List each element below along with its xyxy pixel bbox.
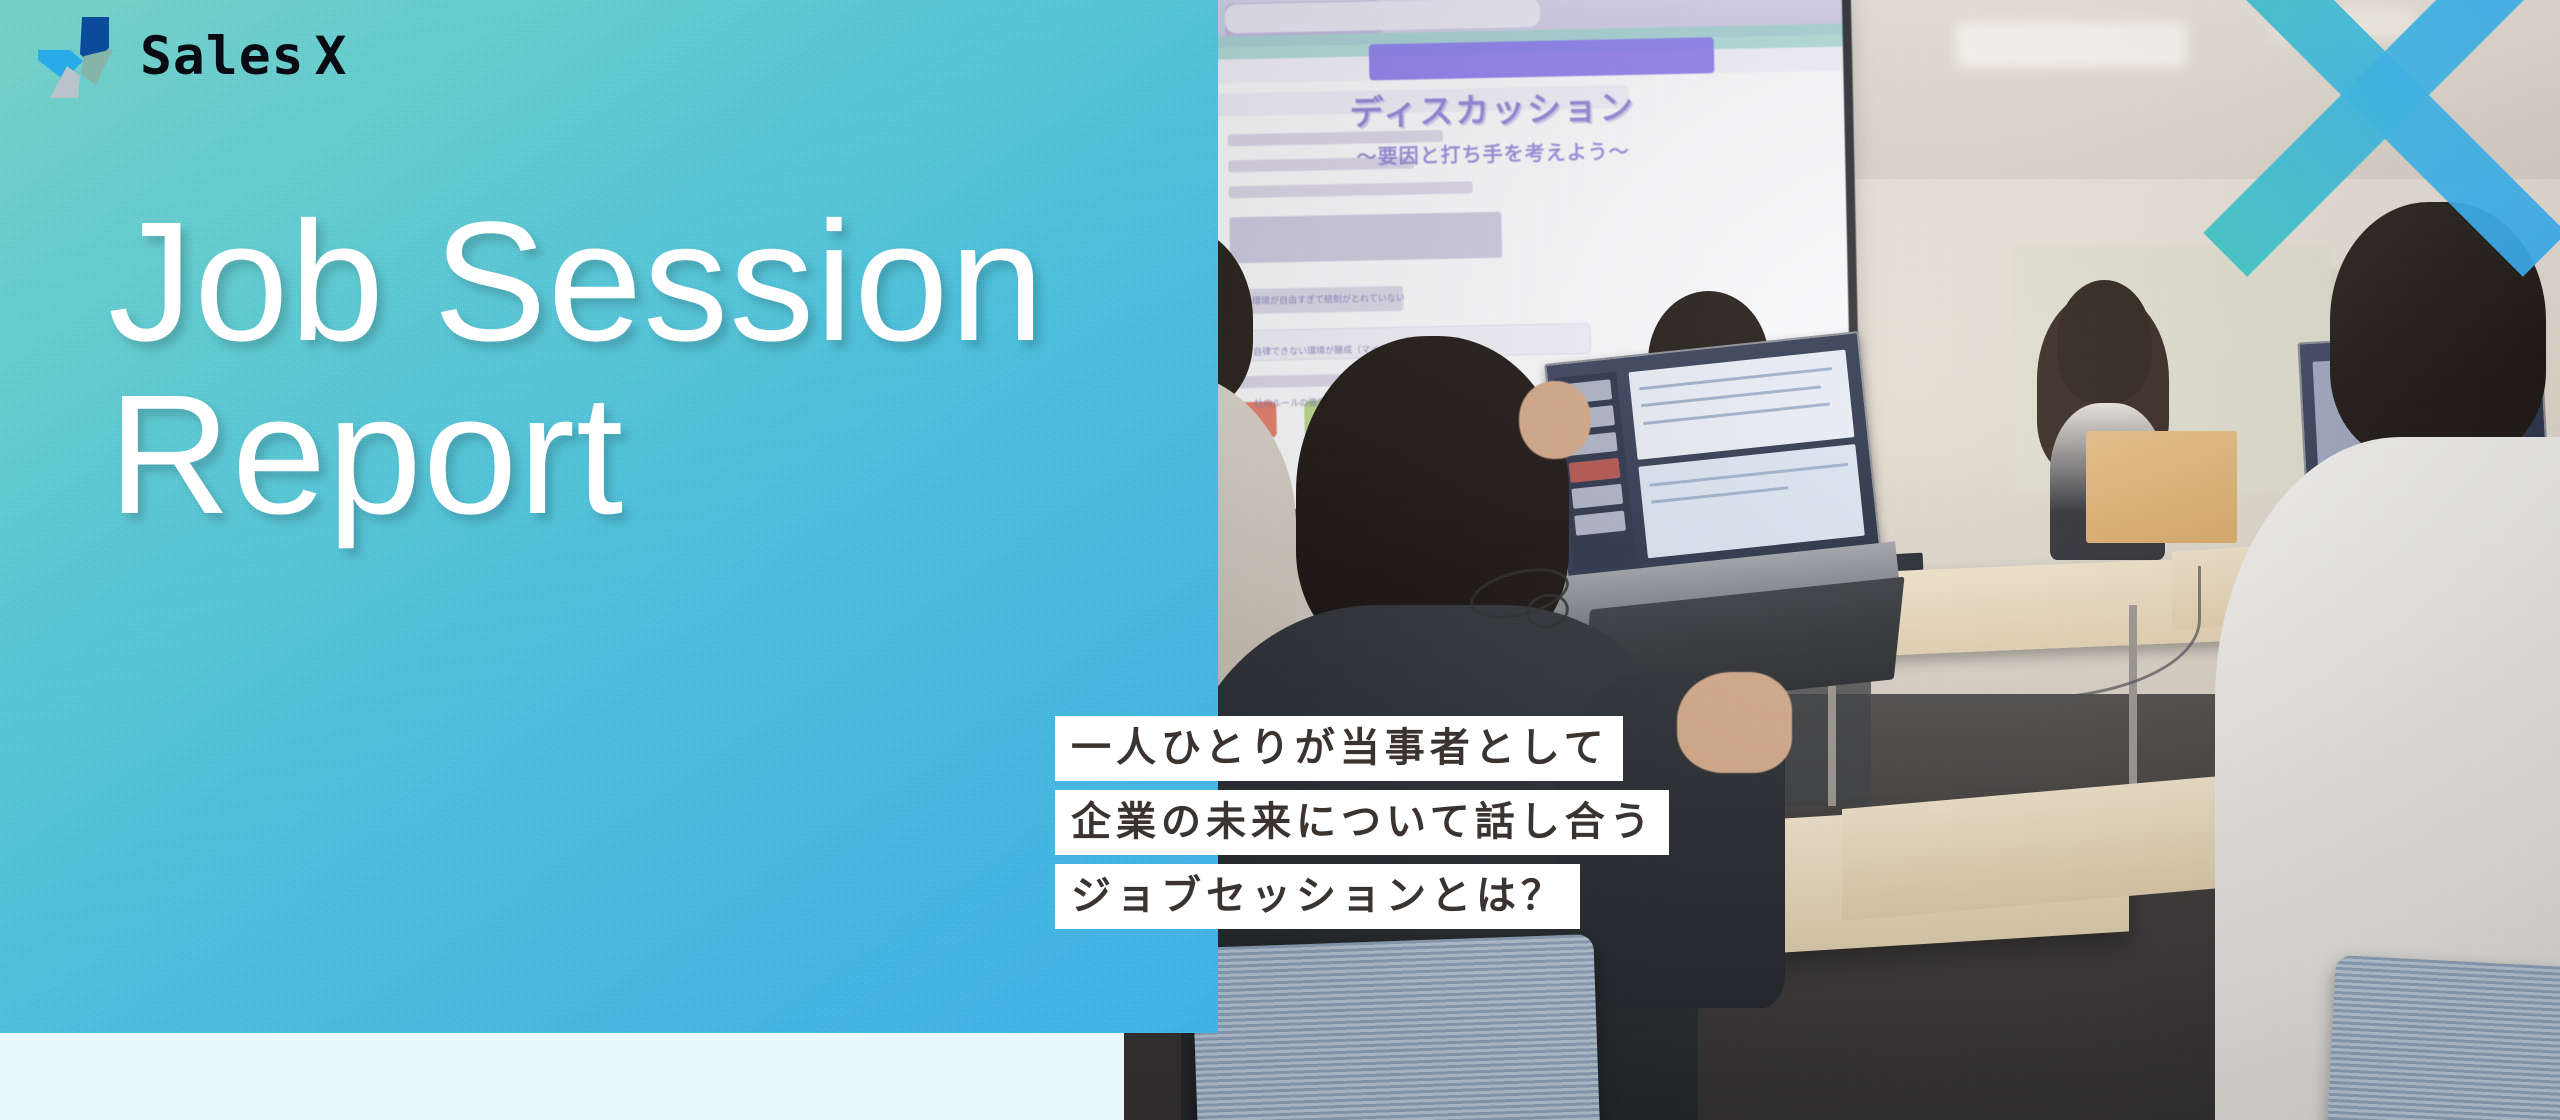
photo-chair-right	[2325, 955, 2560, 1120]
page-title: Job SessionReport	[108, 196, 1045, 543]
slide-subtitle: ～要因と打ち手を考えよう～	[1356, 135, 1630, 170]
photo-person-front-hand	[1677, 672, 1792, 773]
brand-wordmark-x: X	[315, 26, 348, 87]
caption-line-3: ジョブセッションとは？	[1055, 864, 1580, 929]
photo-laptop-far-gold	[2086, 431, 2237, 543]
brand-logo[interactable]: Sales X	[34, 14, 347, 98]
photo-ceiling-light	[1957, 22, 2187, 67]
hero-panel: Sales X Job SessionReport	[0, 0, 1218, 1033]
photo-person-right-head	[2330, 202, 2545, 460]
bottom-light-band	[0, 1033, 1124, 1120]
slide-title: ディスカッション	[1349, 80, 1636, 135]
caption-line-1: 一人ひとりが当事者として	[1055, 716, 1623, 781]
photo-chair-front	[1191, 934, 1602, 1120]
photo-laptop-notes-area	[1638, 444, 1865, 559]
screen-brand-button	[1369, 37, 1714, 80]
photo-ceiling-light-2	[2273, 6, 2417, 40]
page-title-line2: Report	[108, 360, 624, 550]
subtitle-caption: 一人ひとりが当事者として 企業の未来について話し合う ジョブセッションとは？	[1055, 716, 1669, 929]
hero-banner: ディスカッション ～要因と打ち手を考えよう～ 環境が自由すぎて統制がとれていない…	[0, 0, 2560, 1120]
photo-person-front-chin-hand	[1519, 381, 1591, 459]
caption-line-2: 企業の未来について話し合う	[1055, 790, 1669, 855]
meeting-photo: ディスカッション ～要因と打ち手を考えよう～ 環境が自由すぎて統制がとれていない…	[1124, 0, 2560, 1120]
page-title-line1: Job Session	[108, 187, 1045, 377]
slide-title-group: ディスカッション ～要因と打ち手を考えよう～	[1212, 77, 1776, 274]
photo-person-woman-head	[2057, 280, 2152, 403]
salesx-butterfly-mark-icon	[34, 14, 116, 98]
brand-wordmark-sales: Sales	[140, 26, 305, 87]
brand-wordmark: Sales X	[140, 26, 347, 87]
